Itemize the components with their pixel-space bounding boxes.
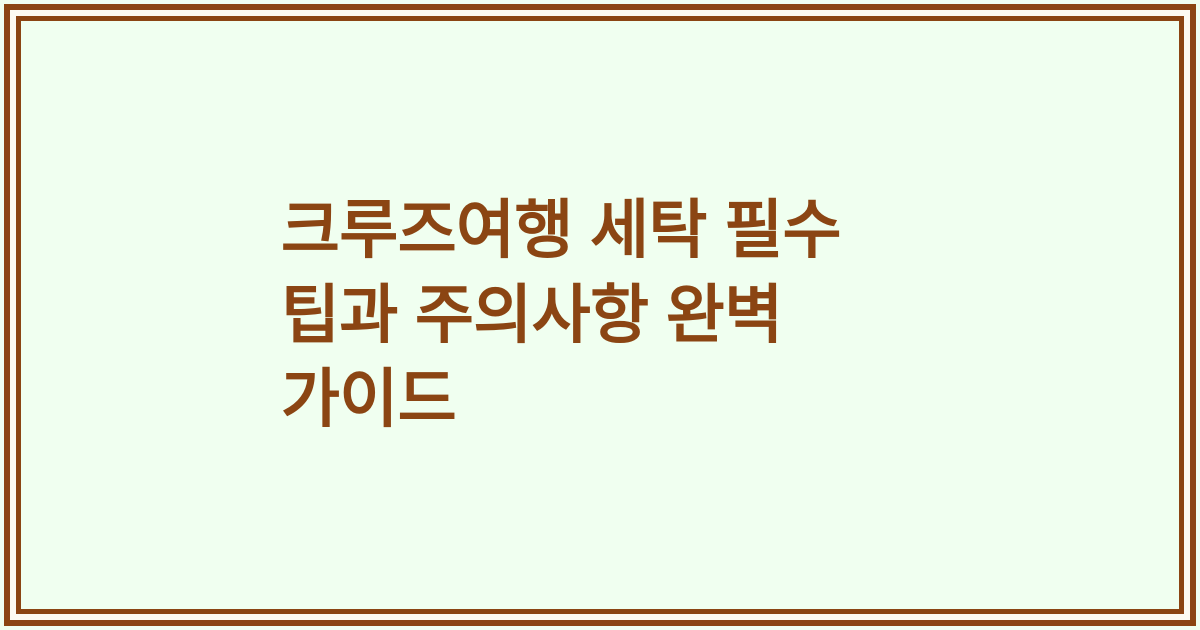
page-title: 크루즈여행 세탁 필수 팁과 주의사항 완벽 가이드 — [281, 188, 961, 441]
inner-border-frame: 크루즈여행 세탁 필수 팁과 주의사항 완벽 가이드 — [16, 16, 1184, 614]
title-container: 크루즈여행 세탁 필수 팁과 주의사항 완벽 가이드 — [21, 188, 1179, 441]
title-card: 크루즈여행 세탁 필수 팁과 주의사항 완벽 가이드 — [0, 0, 1200, 630]
outer-border-frame: 크루즈여행 세탁 필수 팁과 주의사항 완벽 가이드 — [4, 4, 1196, 626]
